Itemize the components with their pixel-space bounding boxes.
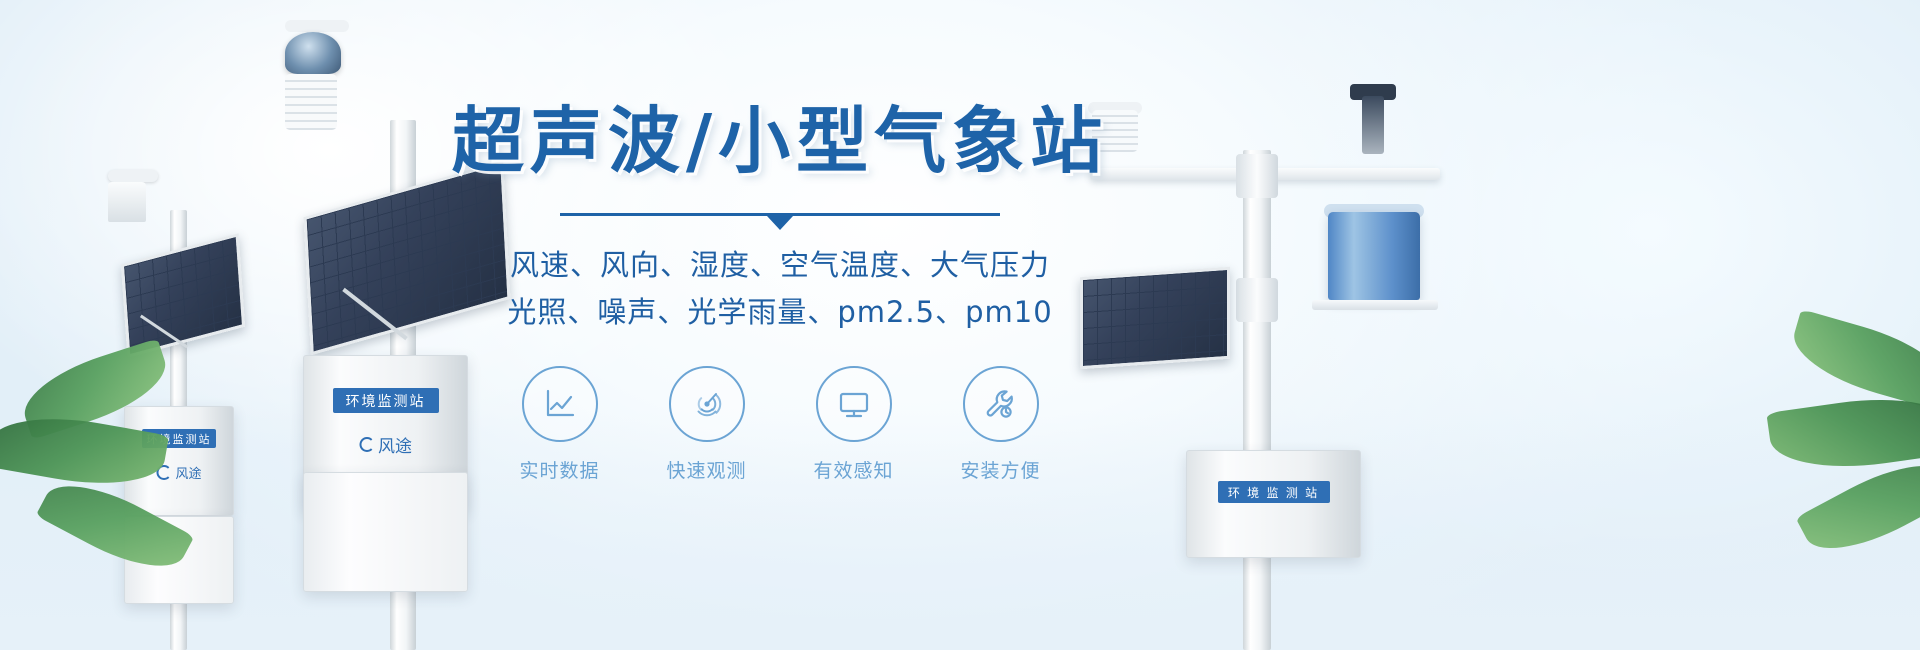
banner-title: 超声波/小型气象站 xyxy=(430,100,1130,183)
banner-subtitle: 风速、风向、湿度、空气温度、大气压力 光照、噪声、光学雨量、pm2.5、pm10 xyxy=(430,242,1130,336)
feature-icon-circle xyxy=(963,366,1039,442)
feature-item-realtime-data[interactable]: 实时数据 xyxy=(507,366,612,483)
feature-list: 实时数据 快 xyxy=(430,366,1130,483)
monitor-icon xyxy=(834,384,874,424)
right-clamp-upper xyxy=(1236,154,1278,198)
center-cabinet-lower xyxy=(303,472,468,592)
radar-signal-icon xyxy=(687,384,727,424)
product-banner: 环境监测站 风途 环境监测站 风途 xyxy=(0,0,1920,650)
left-cabinet-brand: 风途 xyxy=(156,463,201,482)
center-dome-cap xyxy=(285,20,349,32)
feature-label: 快速观测 xyxy=(654,456,759,483)
right-mounting-shelf xyxy=(1312,300,1438,310)
feature-item-easy-installation[interactable]: 安装方便 xyxy=(948,366,1053,483)
center-cabinet-brand: 风途 xyxy=(359,432,412,457)
center-sky-dome-sensor xyxy=(285,32,341,74)
right-mast xyxy=(1243,150,1271,650)
left-sensor-cap xyxy=(108,170,158,182)
line-chart-icon xyxy=(540,384,580,424)
left-radiation-shield xyxy=(108,182,146,222)
right-rain-gauge xyxy=(1328,212,1420,300)
center-cabinet-plate: 环境监测站 xyxy=(333,388,439,413)
wrench-icon xyxy=(981,384,1021,424)
banner-copy: 超声波/小型气象站 风速、风向、湿度、空气温度、大气压力 光照、噪声、光学雨量、… xyxy=(430,100,1130,483)
subtitle-line-1: 风速、风向、湿度、空气温度、大气压力 xyxy=(430,242,1130,289)
weather-station-left: 环境监测站 风途 xyxy=(108,170,308,650)
subtitle-line-2: 光照、噪声、光学雨量、pm2.5、pm10 xyxy=(430,289,1130,336)
right-anemometer xyxy=(1362,96,1384,154)
feature-item-fast-observation[interactable]: 快速观测 xyxy=(654,366,759,483)
left-solar-panel xyxy=(121,233,245,358)
feature-icon-circle xyxy=(816,366,892,442)
feature-icon-circle xyxy=(522,366,598,442)
left-brand-text: 风途 xyxy=(175,463,201,482)
title-divider xyxy=(560,213,1000,216)
center-radiation-shield xyxy=(285,74,337,130)
brand-mark-icon xyxy=(359,437,374,452)
feature-label: 有效感知 xyxy=(801,456,906,483)
center-brand-text: 风途 xyxy=(378,432,412,457)
right-clamp-lower xyxy=(1236,278,1278,322)
feature-item-effective-sensing[interactable]: 有效感知 xyxy=(801,366,906,483)
feature-label: 实时数据 xyxy=(507,456,612,483)
right-cabinet-plate: 环 境 监 测 站 xyxy=(1218,481,1330,503)
feature-label: 安装方便 xyxy=(948,456,1053,483)
right-cabinet: 环 境 监 测 站 xyxy=(1186,450,1361,558)
feature-icon-circle xyxy=(669,366,745,442)
